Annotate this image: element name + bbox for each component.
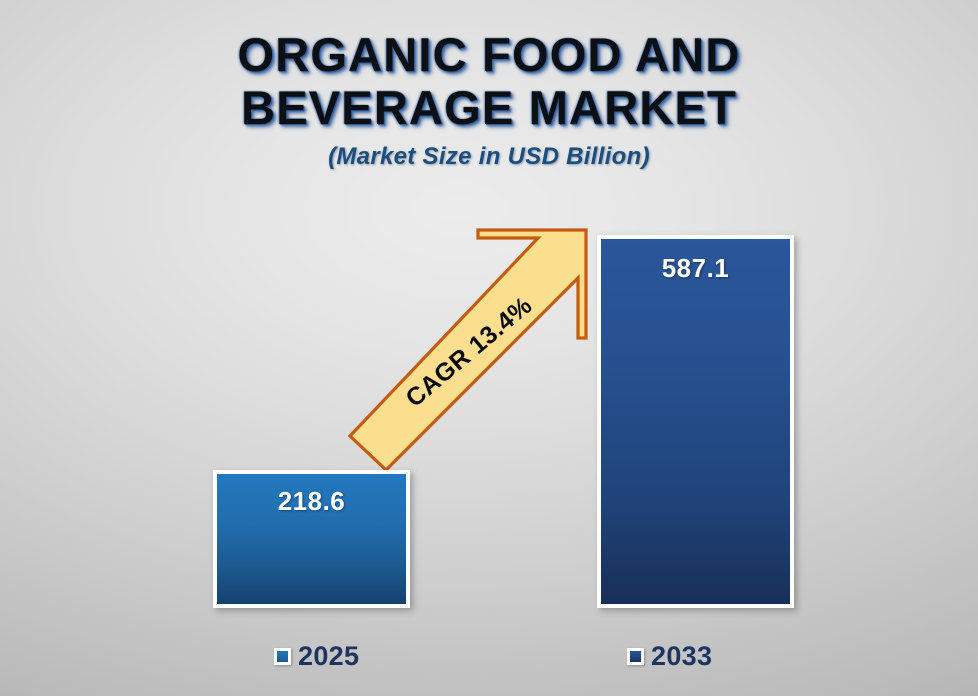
chart-title-block: ORGANIC FOOD AND BEVERAGE MARKET (Market… — [0, 28, 978, 171]
chart-subtitle: (Market Size in USD Billion) — [0, 143, 978, 171]
page-title-line-2: BEVERAGE MARKET — [0, 81, 978, 134]
bar-value-2025: 218.6 — [217, 486, 406, 517]
legend-item-2025: 2025 — [274, 640, 359, 672]
chart-canvas: ORGANIC FOOD AND BEVERAGE MARKET (Market… — [0, 0, 978, 696]
page-title-line-1: ORGANIC FOOD AND — [0, 28, 978, 81]
bar-2025: 218.6 — [213, 470, 410, 608]
legend-label-2033: 2033 — [651, 641, 712, 672]
cagr-label-text: CAGR 13.4% — [400, 291, 538, 413]
legend-item-2033: 2033 — [627, 640, 712, 672]
legend-swatch-2025-icon — [274, 648, 291, 665]
bar-2033: 587.1 — [597, 235, 794, 608]
legend-swatch-2033-icon — [627, 648, 644, 665]
legend-label-2025: 2025 — [298, 641, 359, 672]
cagr-label: CAGR 13.4% — [342, 233, 597, 472]
bar-value-2033: 587.1 — [601, 253, 790, 284]
